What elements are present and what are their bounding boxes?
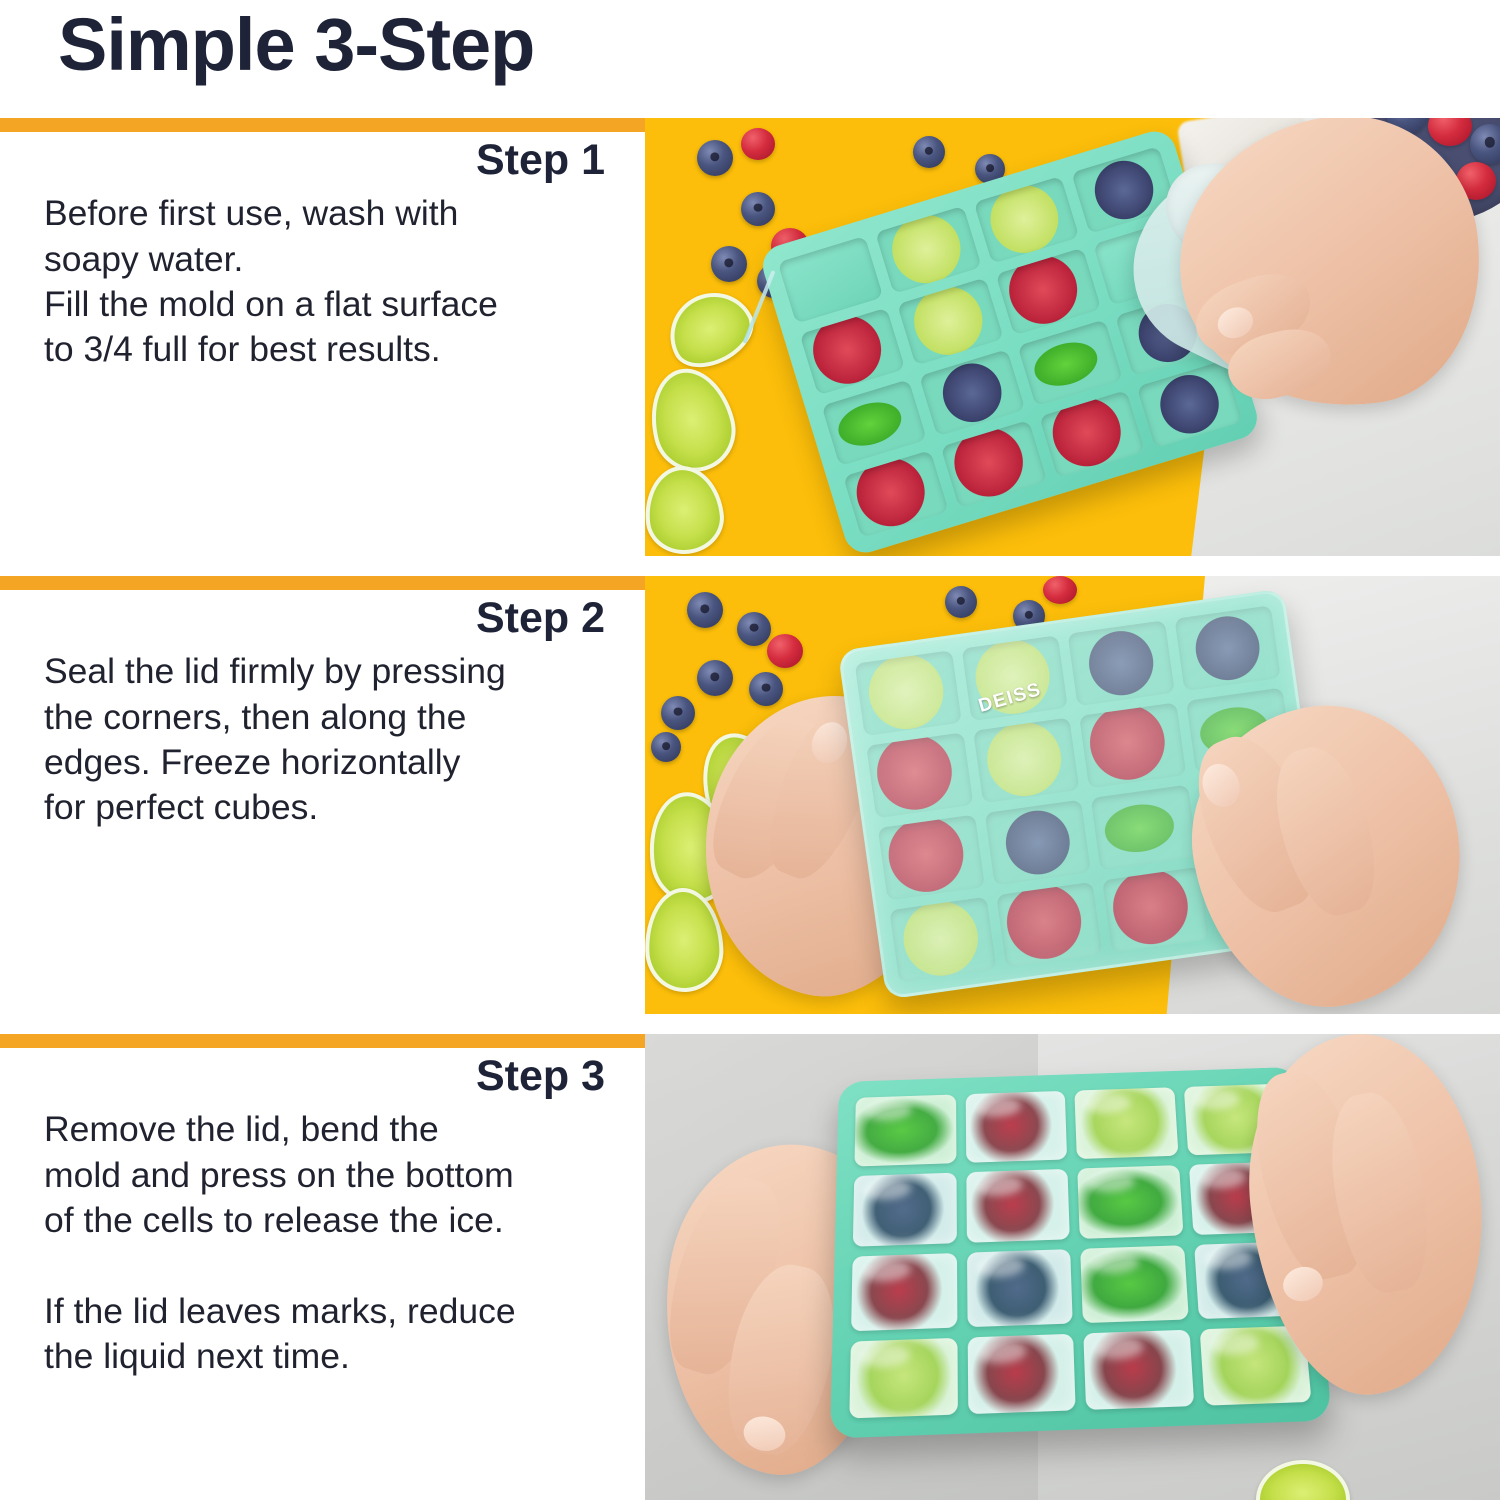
tray-cell	[1039, 390, 1145, 478]
tray-cell	[996, 882, 1103, 968]
step-1-photo: DEISS	[645, 118, 1500, 556]
blueberry	[711, 246, 747, 282]
infographic-page: Simple 3-Step Step 1 Before first use, w…	[0, 0, 1500, 1500]
step-3-note-line-1: If the lid leaves marks, reduce	[44, 1291, 516, 1331]
step-2-text-block: Step 2 Seal the lid firmly by pressing t…	[0, 594, 645, 830]
step-3-heading: Step 3	[44, 1052, 605, 1101]
step-3-body-2: If the lid leaves marks, reduce the liqu…	[44, 1289, 619, 1379]
divider-bar-2	[0, 576, 645, 590]
step-3-photo	[645, 1034, 1500, 1500]
tray-cell	[1102, 867, 1209, 953]
step-3-body-1: Remove the lid, bend the mold and press …	[44, 1107, 619, 1242]
step-1-line-1: Before first use, wash with	[44, 193, 458, 233]
tray-cell	[821, 379, 927, 467]
step-1-body: Before first use, wash with soapy water.…	[44, 191, 619, 371]
raspberry	[741, 128, 775, 160]
tray-cell	[799, 307, 905, 395]
ice-cube	[967, 1249, 1073, 1327]
tray-cell	[778, 236, 884, 324]
blueberry	[697, 660, 733, 696]
tray-cell	[973, 176, 1079, 264]
step-2-photo: DEISS	[645, 576, 1500, 1014]
ice-cube	[1083, 1329, 1193, 1410]
tray-cell	[984, 800, 1091, 886]
tray-cell	[1079, 702, 1186, 788]
ice-cube	[1080, 1245, 1188, 1322]
ice-cube	[851, 1253, 957, 1331]
tray-cell	[1017, 319, 1123, 407]
step-3-note-line-2: the liquid next time.	[44, 1336, 350, 1376]
tray-cell	[897, 277, 1003, 365]
step-2-body: Seal the lid firmly by pressing the corn…	[44, 649, 619, 829]
tray-cell	[889, 897, 996, 983]
step-1-line-2: soapy water.	[44, 239, 243, 279]
blueberry	[749, 672, 783, 706]
ice-cube	[854, 1094, 956, 1166]
step-1-text-block: Step 1 Before first use, wash with soapy…	[0, 136, 645, 372]
blueberry	[661, 696, 695, 730]
ice-cube	[965, 1091, 1067, 1162]
tray-cell	[1068, 620, 1175, 706]
step-2-line-4: for perfect cubes.	[44, 787, 318, 827]
tray-cell	[995, 247, 1101, 335]
step-1-line-3: Fill the mold on a flat surface	[44, 284, 498, 324]
scene-sealing-lid: DEISS	[645, 576, 1500, 1014]
blueberry	[651, 732, 681, 762]
tray-cell	[1091, 785, 1198, 871]
step-3-line-2: mold and press on the bottom	[44, 1155, 514, 1195]
raspberry	[767, 634, 803, 668]
step-3-line-1: Remove the lid, bend the	[44, 1109, 439, 1149]
divider-bar-3	[0, 1034, 645, 1048]
step-1-heading: Step 1	[44, 136, 605, 185]
tray-cell	[1174, 605, 1281, 691]
tray-cell	[843, 450, 949, 538]
step-2-line-1: Seal the lid firmly by pressing	[44, 651, 506, 691]
tray-cell	[973, 717, 1080, 803]
scene-releasing-ice	[645, 1034, 1500, 1500]
tray-cell	[878, 815, 985, 901]
step-2-line-2: the corners, then along the	[44, 697, 466, 737]
raspberry	[1043, 576, 1077, 604]
ice-cube	[1074, 1087, 1178, 1158]
blueberry	[687, 592, 723, 628]
step-2-heading: Step 2	[44, 594, 605, 643]
tray-cell	[941, 420, 1047, 508]
ice-cube	[849, 1337, 957, 1418]
blueberry	[913, 136, 945, 168]
blueberry	[741, 192, 775, 226]
step-3-text-block: Step 3 Remove the lid, bend the mold and…	[0, 1052, 645, 1379]
ice-cube	[1077, 1165, 1183, 1239]
blueberry	[945, 586, 977, 618]
step-2-line-3: edges. Freeze horizontally	[44, 742, 460, 782]
tray-cell	[855, 650, 962, 736]
scene-pouring-water: DEISS	[645, 118, 1500, 556]
page-title: Simple 3-Step	[58, 4, 534, 87]
tray-cell	[875, 206, 981, 294]
tray-cell	[1137, 361, 1243, 449]
tray-cell-grid	[849, 1084, 1311, 1419]
blueberry	[697, 140, 733, 176]
divider-bar-1	[0, 118, 645, 132]
ice-cube	[853, 1172, 957, 1247]
ice-cube	[966, 1168, 1070, 1242]
ice-cube	[967, 1333, 1075, 1414]
step-1-line-4: to 3/4 full for best results.	[44, 329, 441, 369]
blueberry	[737, 612, 771, 646]
step-3-line-3: of the cells to release the ice.	[44, 1200, 504, 1240]
tray-cell	[866, 732, 973, 818]
tray-cell	[919, 349, 1025, 437]
